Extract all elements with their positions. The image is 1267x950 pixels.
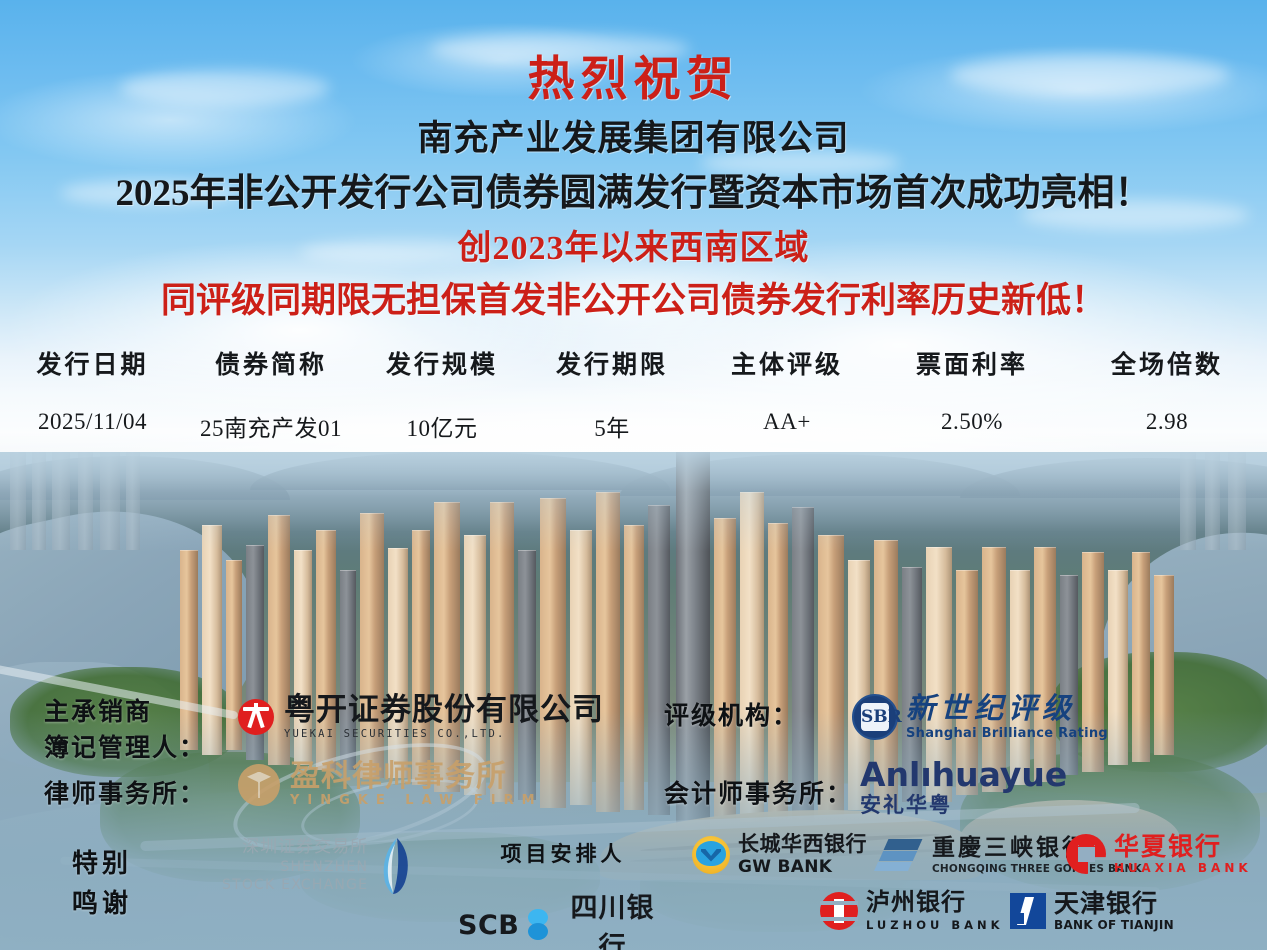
cell-issue-size: 10亿元 (357, 409, 527, 443)
sichuan-bank-logo: SCB 四川银行 (458, 886, 668, 950)
label-lead-underwriter: 主承销商 (44, 692, 152, 728)
column-header-coupon-rate: 票面利率 (877, 345, 1067, 381)
label-accounting-firm: 会计师事务所： (664, 774, 853, 810)
yingke-name-cn: 盈科律师事务所 (290, 762, 543, 792)
project-arranger-block: 项目安排人 SCB 四川银行 (458, 838, 668, 950)
special-thanks-label: 特别 鸣谢 (72, 844, 132, 925)
yingke-cube-icon (238, 764, 280, 806)
cqtg-bar-mid (879, 851, 917, 861)
scb-name-cn: 四川银行 (557, 886, 668, 950)
luzhou-gap-top (820, 901, 858, 905)
rating-seal-icon: SBR (852, 694, 898, 740)
szse-wordmark: 深圳证券交易所 SHENZHEN STOCK EXCHANGE (222, 839, 368, 892)
luzhou-wordmark: 泸州银行 LUZHOU BANK (866, 890, 1004, 931)
szse-name-en-line1: SHENZHEN (222, 860, 368, 875)
cell-issue-term: 5年 (527, 409, 697, 443)
accountant-name-cn: 安礼华粤 (860, 795, 1067, 816)
yuekai-name-en: YUEKAI SECURITIES CO.,LTD. (284, 729, 604, 740)
huaxia-wordmark: 华夏银行 HUAXIA BANK (1114, 833, 1252, 875)
scb-droplet-bottom (528, 923, 548, 940)
szse-sail-svg (375, 838, 411, 894)
luzhou-bank-logo: 泸州银行 LUZHOU BANK (820, 890, 1004, 931)
bond-details-table: 发行日期 债券简称 发行规模 发行期限 主体评级 票面利率 全场倍数 2025/… (0, 345, 1267, 443)
yuekai-securities-logo: 粤开证券股份有限公司 YUEKAI SECURITIES CO.,LTD. (236, 695, 604, 740)
column-header-issue-date: 发行日期 (0, 345, 185, 381)
huaxia-inner-square (1078, 845, 1095, 862)
tianjin-mark-icon (1010, 893, 1046, 929)
luzhou-mark-icon (820, 892, 858, 930)
label-law-firm: 律师事务所： (44, 774, 206, 810)
yingke-wordmark: 盈科律师事务所 YINGKE LAW FIRM (290, 762, 543, 807)
bank-of-tianjin-logo: 天津银行 BANK OF TIANJIN (1010, 890, 1174, 932)
headline-line-4: 同评级同期限无担保首发非公开公司债券发行利率历史新低！ (0, 272, 1267, 323)
column-header-bond-name: 债券简称 (185, 345, 357, 381)
huaxia-name-cn: 华夏银行 (1114, 833, 1252, 860)
shenzhen-stock-exchange-logo: 深圳证券交易所 SHENZHEN STOCK EXCHANGE (222, 838, 411, 894)
rating-seal-plate: SBR (861, 703, 889, 731)
szse-name-en-line2: STOCK EXCHANGE (222, 878, 368, 893)
cqtg-bar-top (884, 839, 923, 850)
rating-name-en: Shanghai Brilliance Rating (906, 727, 1108, 740)
yingke-cube-edge (258, 782, 260, 798)
yuekai-mark-icon (236, 697, 276, 737)
yingke-law-firm-logo: 盈科律师事务所 YINGKE LAW FIRM (238, 762, 543, 807)
gw-bank-name-cn: 长城华西银行 (738, 833, 867, 856)
table-header-row: 发行日期 债券简称 发行规模 发行期限 主体评级 票面利率 全场倍数 (0, 345, 1267, 381)
cell-coupon-rate: 2.50% (877, 409, 1067, 443)
anlihuayue-accounting-logo: Anlıhuayue 安礼华粤 (860, 758, 1067, 816)
luzhou-name-cn: 泸州银行 (866, 890, 1004, 916)
huaxia-mark-icon (1066, 834, 1106, 874)
scb-abbrev: SCB (458, 910, 519, 941)
cqtg-mark-icon (876, 837, 924, 875)
gw-bank-wordmark: 长城华西银行 GW BANK (738, 833, 867, 876)
yingke-name-en: YINGKE LAW FIRM (290, 794, 543, 807)
column-header-bid-multiple: 全场倍数 (1067, 345, 1267, 381)
tianjin-name-en: BANK OF TIANJIN (1054, 919, 1174, 932)
column-header-issue-size: 发行规模 (357, 345, 527, 381)
special-thanks-line1: 特别 (72, 844, 132, 884)
tianjin-name-cn: 天津银行 (1054, 890, 1174, 917)
gw-bank-logo: 长城华西银行 GW BANK (692, 833, 867, 876)
rating-name-cn: 新世纪评级 (906, 694, 1108, 723)
luzhou-gap-bottom (820, 917, 858, 921)
cqtg-bar-bottom (874, 862, 912, 871)
yuekai-wordmark: 粤开证券股份有限公司 YUEKAI SECURITIES CO.,LTD. (284, 695, 604, 740)
company-name: 南充产业发展集团有限公司 (0, 110, 1267, 161)
scb-droplet-icon (526, 909, 550, 941)
headline-line-2: 2025年非公开发行公司债券圆满发行暨资本市场首次成功亮相！ (0, 162, 1267, 216)
accountant-name-en: Anlıhuayue (860, 758, 1067, 791)
yuekai-name-cn: 粤开证券股份有限公司 (284, 695, 604, 726)
table-row: 2025/11/04 25南充产发01 10亿元 5年 AA+ 2.50% 2.… (0, 409, 1267, 443)
congratulation-poster: 热烈祝贺 南充产业发展集团有限公司 2025年非公开发行公司债券圆满发行暨资本市… (0, 0, 1267, 950)
cell-bond-name: 25南充产发01 (185, 409, 357, 443)
shanghai-brilliance-rating-logo: SBR 新世纪评级 Shanghai Brilliance Rating (852, 694, 1108, 740)
gw-bank-name-en: GW BANK (738, 858, 867, 876)
label-rating-agency: 评级机构： (664, 696, 799, 732)
gw-bank-dome (696, 841, 726, 866)
column-header-issuer-rating: 主体评级 (697, 345, 877, 381)
headline-line-3: 创2023年以来西南区域 (0, 220, 1267, 269)
cell-bid-multiple: 2.98 (1067, 409, 1267, 443)
szse-name-cn: 深圳证券交易所 (222, 839, 368, 857)
tianjin-wordmark: 天津银行 BANK OF TIANJIN (1054, 890, 1174, 932)
label-bookrunner: 簿记管理人： (44, 728, 206, 764)
special-thanks-line2: 鸣谢 (72, 884, 132, 924)
rating-seal-letters: SBR (861, 703, 889, 731)
tianjin-notch (1015, 913, 1024, 924)
huaxia-name-en: HUAXIA BANK (1114, 862, 1252, 875)
luzhou-name-en: LUZHOU BANK (866, 919, 1004, 931)
column-header-issue-term: 发行期限 (527, 345, 697, 381)
huaxia-bank-logo: 华夏银行 HUAXIA BANK (1066, 833, 1252, 875)
arranger-label: 项目安排人 (458, 838, 668, 868)
congrats-title: 热烈祝贺 (0, 40, 1267, 109)
szse-sail-icon (375, 838, 411, 894)
cell-issuer-rating: AA+ (697, 409, 877, 443)
gw-bank-mark-icon (692, 836, 730, 874)
cell-issue-date: 2025/11/04 (0, 409, 185, 443)
rating-wordmark: 新世纪评级 Shanghai Brilliance Rating (906, 694, 1108, 740)
